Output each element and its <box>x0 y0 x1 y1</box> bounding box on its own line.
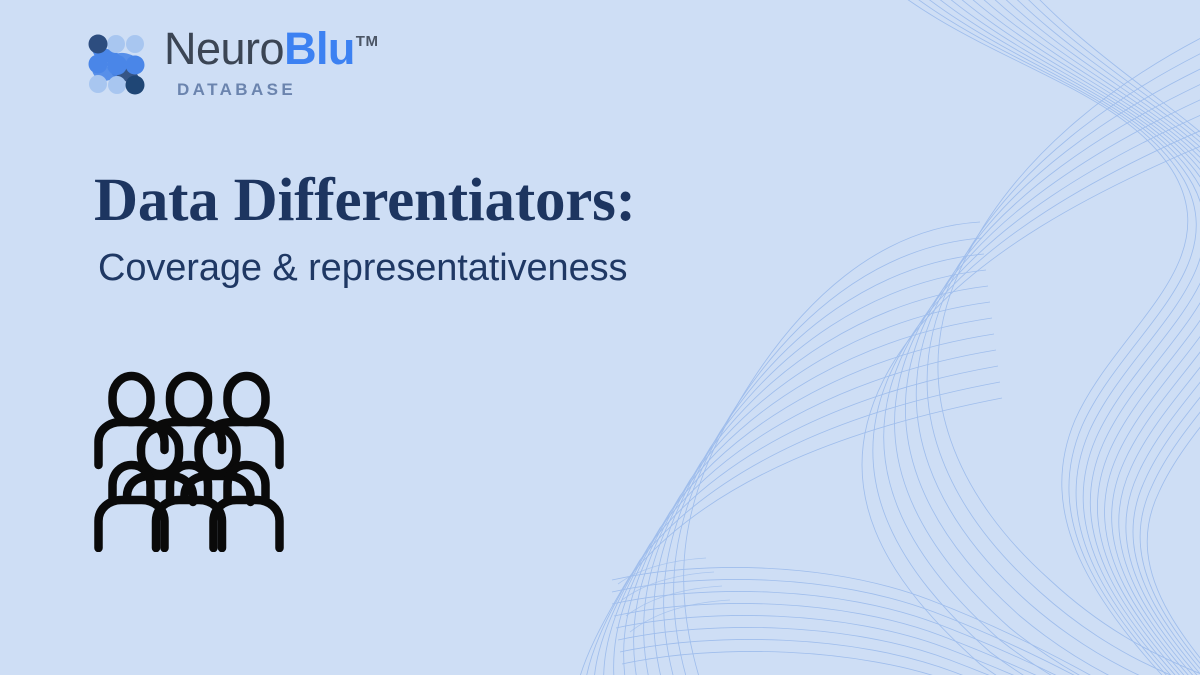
page-title: Data Differentiators: <box>94 168 794 234</box>
group-of-people-icon <box>94 366 286 552</box>
slide-canvas: NeuroBluTM DATABASE Data Differentiators… <box>0 0 1200 675</box>
logo-subtitle-database: DATABASE <box>177 80 296 100</box>
page-subtitle: Coverage & representativeness <box>98 246 794 292</box>
wordmark-blu: Blu <box>284 23 355 74</box>
trademark-symbol: TM <box>356 33 379 50</box>
neuroblu-logo[interactable]: NeuroBluTM DATABASE <box>86 28 406 106</box>
headline-block: Data Differentiators: Coverage & represe… <box>94 168 794 291</box>
neuroblu-node-network-mark-icon <box>86 32 152 98</box>
wordmark-neuro: Neuro <box>164 23 284 74</box>
person-back-left <box>99 376 165 465</box>
